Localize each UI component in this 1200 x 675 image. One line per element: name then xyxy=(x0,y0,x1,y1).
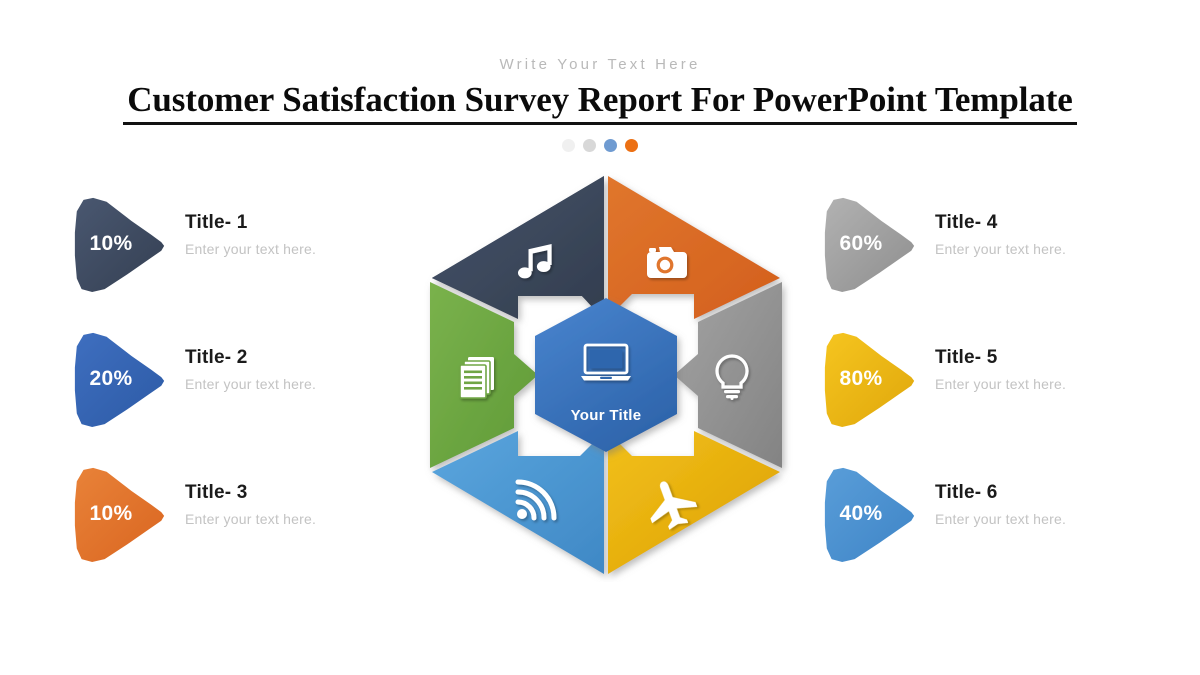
item-title: Title- 6 xyxy=(935,482,1175,504)
eyebrow-text: Write Your Text Here xyxy=(0,56,1200,73)
item-description: Enter your text here. xyxy=(185,241,425,257)
item-description: Enter your text here. xyxy=(185,511,425,527)
hex-center[interactable] xyxy=(535,298,677,452)
percent-badge-2: 20% xyxy=(72,331,168,427)
item-title: Title- 2 xyxy=(185,347,425,369)
dot-3 xyxy=(604,139,617,152)
list-item[interactable]: 20% Title- 2 Enter your text here. xyxy=(72,331,432,466)
item-title: Title- 3 xyxy=(185,482,425,504)
list-item[interactable]: 80% Title- 5 Enter your text here. xyxy=(822,331,1182,466)
item-description: Enter your text here. xyxy=(935,376,1175,392)
dot-indicator xyxy=(0,139,1200,152)
header: Write Your Text Here Customer Satisfacti… xyxy=(0,0,1200,152)
item-text-block: Title- 4 Enter your text here. xyxy=(935,212,1175,257)
item-title: Title- 4 xyxy=(935,212,1175,234)
item-description: Enter your text here. xyxy=(185,376,425,392)
percent-value: 40% xyxy=(840,502,883,526)
item-text-block: Title- 5 Enter your text here. xyxy=(935,347,1175,392)
percent-value: 80% xyxy=(840,367,883,391)
percent-value: 10% xyxy=(90,232,133,256)
center-title: Your Title xyxy=(571,407,642,424)
percent-value: 60% xyxy=(840,232,883,256)
documents-icon xyxy=(460,357,494,398)
dot-4 xyxy=(625,139,638,152)
percent-badge-6: 40% xyxy=(822,466,918,562)
title-wrapper: Customer Satisfaction Survey Report For … xyxy=(0,80,1200,125)
list-item[interactable]: 40% Title- 6 Enter your text here. xyxy=(822,466,1182,601)
percent-value: 10% xyxy=(90,502,133,526)
percent-badge-5: 80% xyxy=(822,331,918,427)
percent-value: 20% xyxy=(90,367,133,391)
list-item[interactable]: 10% Title- 1 Enter your text here. xyxy=(72,196,432,331)
percent-badge-3: 10% xyxy=(72,466,168,562)
percent-badge-4: 60% xyxy=(822,196,918,292)
percent-badge-1: 10% xyxy=(72,196,168,292)
item-title: Title- 5 xyxy=(935,347,1175,369)
item-text-block: Title- 2 Enter your text here. xyxy=(185,347,425,392)
dot-2 xyxy=(583,139,596,152)
item-text-block: Title- 6 Enter your text here. xyxy=(935,482,1175,527)
right-items-column: 60% Title- 4 Enter your text here. 80% T… xyxy=(822,196,1182,601)
item-text-block: Title- 3 Enter your text here. xyxy=(185,482,425,527)
item-description: Enter your text here. xyxy=(935,511,1175,527)
left-items-column: 10% Title- 1 Enter your text here. 20% T… xyxy=(72,196,432,601)
dot-1 xyxy=(562,139,575,152)
item-title: Title- 1 xyxy=(185,212,425,234)
list-item[interactable]: 10% Title- 3 Enter your text here. xyxy=(72,466,432,601)
hex-segment-right[interactable] xyxy=(674,282,782,468)
page-title: Customer Satisfaction Survey Report For … xyxy=(123,80,1076,125)
list-item[interactable]: 60% Title- 4 Enter your text here. xyxy=(822,196,1182,331)
hexagon-infographic: Your Title xyxy=(414,168,798,582)
item-text-block: Title- 1 Enter your text here. xyxy=(185,212,425,257)
item-description: Enter your text here. xyxy=(935,241,1175,257)
